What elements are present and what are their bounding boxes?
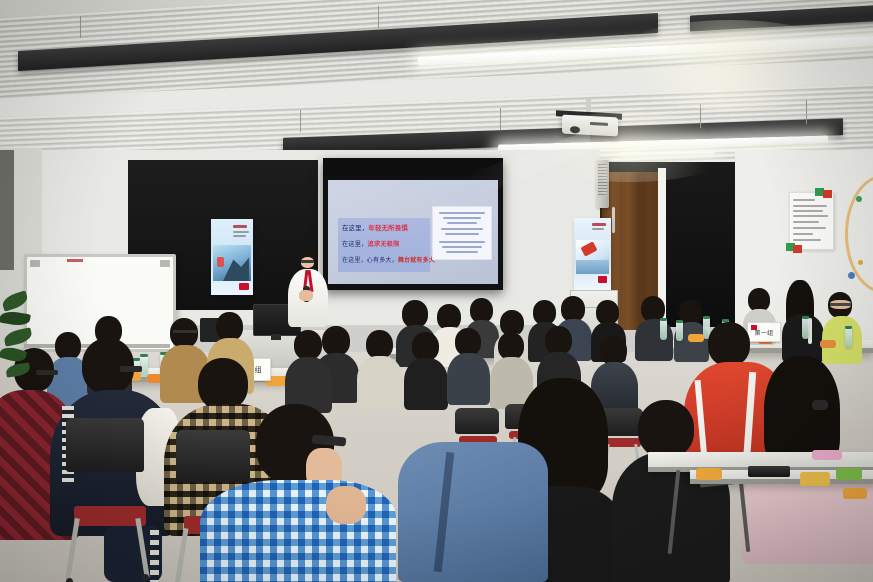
water-bottle[interactable] xyxy=(660,318,667,340)
audience-foreground xyxy=(398,442,548,582)
attendee-hand xyxy=(326,486,366,524)
snack-packet[interactable] xyxy=(836,468,862,480)
audience-foreground xyxy=(622,400,722,582)
beam-hanger xyxy=(806,100,807,124)
sheet-line xyxy=(793,205,827,207)
slide-line-1: 在这里，年轻无所畏惧 xyxy=(342,223,408,232)
wall-dot-orange xyxy=(858,260,863,265)
presenter-hands xyxy=(299,290,313,301)
water-bottle[interactable] xyxy=(845,326,852,348)
door-handle[interactable] xyxy=(612,207,615,233)
snack-packet[interactable] xyxy=(820,340,836,348)
poster-skier xyxy=(574,218,611,292)
presenter-glasses xyxy=(301,260,314,263)
sheet-line xyxy=(793,233,813,235)
presenter-speaking xyxy=(285,250,331,330)
snack-packet[interactable] xyxy=(696,468,722,480)
poster-left-image xyxy=(213,245,251,281)
projector-vent xyxy=(590,122,608,126)
sheet-line xyxy=(793,221,819,223)
projection-screen-surface: 在这里，年轻无所畏惧 在这里，追求无极限 在这里，心有多大，舞台就有多大 xyxy=(328,180,498,284)
poster-mountain-climber xyxy=(211,219,253,295)
sheet-line xyxy=(793,215,828,217)
snack-packet[interactable] xyxy=(800,472,830,486)
ceiling-projector xyxy=(562,115,618,137)
wall-decor-red xyxy=(823,190,832,198)
projection-screen: 在这里，年轻无所畏惧 在这里，追求无极限 在这里，心有多大，舞台就有多大 xyxy=(323,158,503,290)
slide-line-2: 在这里，追求无极限 xyxy=(342,239,400,248)
wall-dot-green xyxy=(856,196,862,202)
presenter-face xyxy=(301,257,314,268)
eyeglasses xyxy=(120,366,142,372)
snack-packet[interactable] xyxy=(812,450,842,460)
projector-lens xyxy=(570,126,580,134)
sheet-line xyxy=(793,227,826,229)
sheet-line xyxy=(793,239,821,241)
beam-hanger xyxy=(80,16,81,38)
beam-hanger xyxy=(300,110,301,132)
ceiling-light-tube-4 xyxy=(620,152,715,157)
wall-speaker xyxy=(596,160,609,208)
water-bottle[interactable] xyxy=(802,316,809,339)
water-bottle[interactable] xyxy=(676,320,683,341)
beam-hanger xyxy=(378,6,379,28)
monitor-stand xyxy=(271,334,281,340)
ceiling xyxy=(0,0,873,175)
presenter-remote-case[interactable] xyxy=(748,466,790,477)
attendee-blue-check-shirt xyxy=(228,404,418,582)
sheet-line xyxy=(793,199,815,201)
trouser-stripe xyxy=(150,530,159,582)
snack-packet[interactable] xyxy=(843,488,867,499)
speaker-grill xyxy=(598,164,607,196)
hair-tie xyxy=(812,400,828,410)
whiteboard-corner xyxy=(160,260,170,267)
meeting-room-photo: 在这里，年轻无所畏惧 在这里，追求无极限 在这里，心有多大，舞台就有多大 xyxy=(0,0,873,582)
sheet-line xyxy=(793,210,823,212)
potted-plant xyxy=(0,290,42,410)
left-wall-shadow xyxy=(0,150,14,270)
poster-right-logo xyxy=(598,276,607,283)
slide-line-3: 在这里，心有多大，舞台就有多大 xyxy=(342,255,435,264)
beam-hanger xyxy=(700,104,701,128)
wall-decor-red xyxy=(793,245,802,253)
wall-dot-blue xyxy=(848,272,855,279)
beam-hanger xyxy=(500,108,501,130)
poster-left-logo xyxy=(239,283,249,290)
whiteboard-brand-mark xyxy=(67,259,83,262)
printed-notice-sheet xyxy=(789,192,834,250)
slide-inset-box xyxy=(432,206,492,260)
screen-top-casing xyxy=(323,158,503,176)
whiteboard-corner xyxy=(30,260,40,267)
